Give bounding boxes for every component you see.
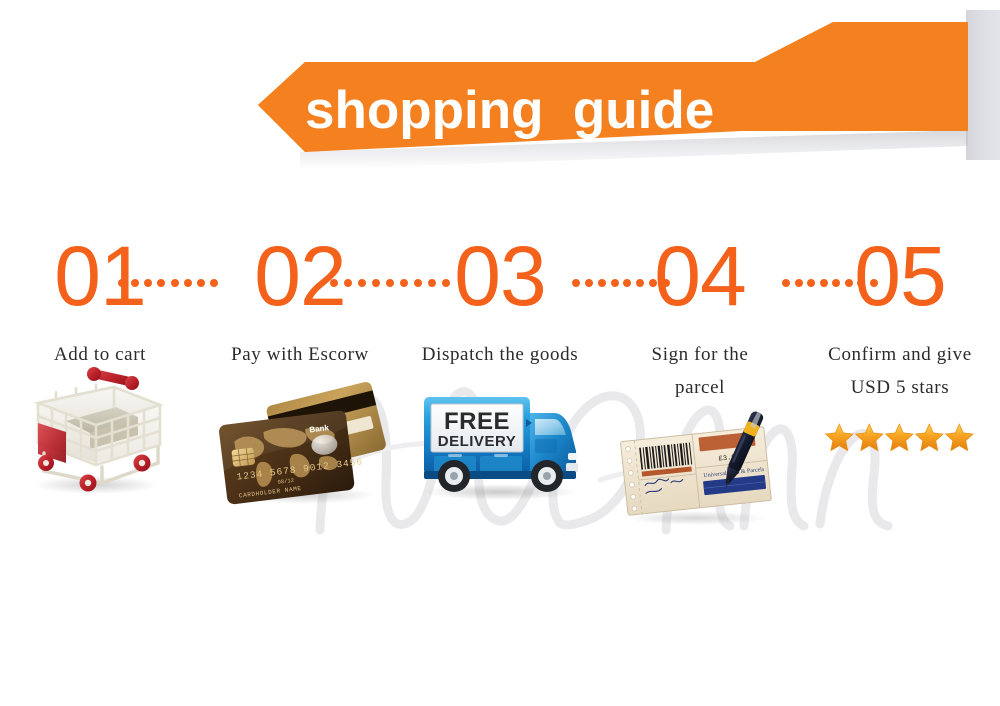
five-stars-icon [810,410,990,560]
banner: shopping guide [0,0,1000,185]
step-number: 02 [254,228,345,324]
step-number: 05 [854,228,945,324]
step-02: 02 Pay with Escorw [200,228,400,648]
shopping-guide-infographic: shopping guide 01 Add to cart [0,0,1000,706]
star-row [826,424,973,451]
step-label: Dispatch the goods [400,338,600,371]
step-01: 01 Add to cart [0,228,200,648]
banner-title: shopping guide [305,84,714,137]
steps-row: 01 Add to cart [0,228,1000,648]
truck-delivery-text: DELIVERY [437,433,515,450]
credit-cards-icon: 7234 [210,377,390,527]
delivery-truck-icon: FREE DELIVERY [410,377,590,527]
step-05: 05 Confirm and give USD 5 stars [800,228,1000,648]
banner-gray-tab [966,10,1000,160]
shopping-cart-icon [10,359,190,509]
step-number: 04 [654,228,745,324]
truck-free-text: FREE [443,408,509,435]
step-label: Sign for the parcel [600,338,800,404]
step-number: 01 [54,228,145,324]
step-04: 04 Sign for the parcel [600,228,800,648]
step-number: 03 [454,228,545,324]
step-label: Confirm and give USD 5 stars [800,338,1000,404]
signing-parcel-icon: £3.9 Universal Mail & Parcels [610,410,790,560]
step-03: 03 Dispatch the goods [400,228,600,648]
step-label: Pay with Escorw [200,338,400,371]
